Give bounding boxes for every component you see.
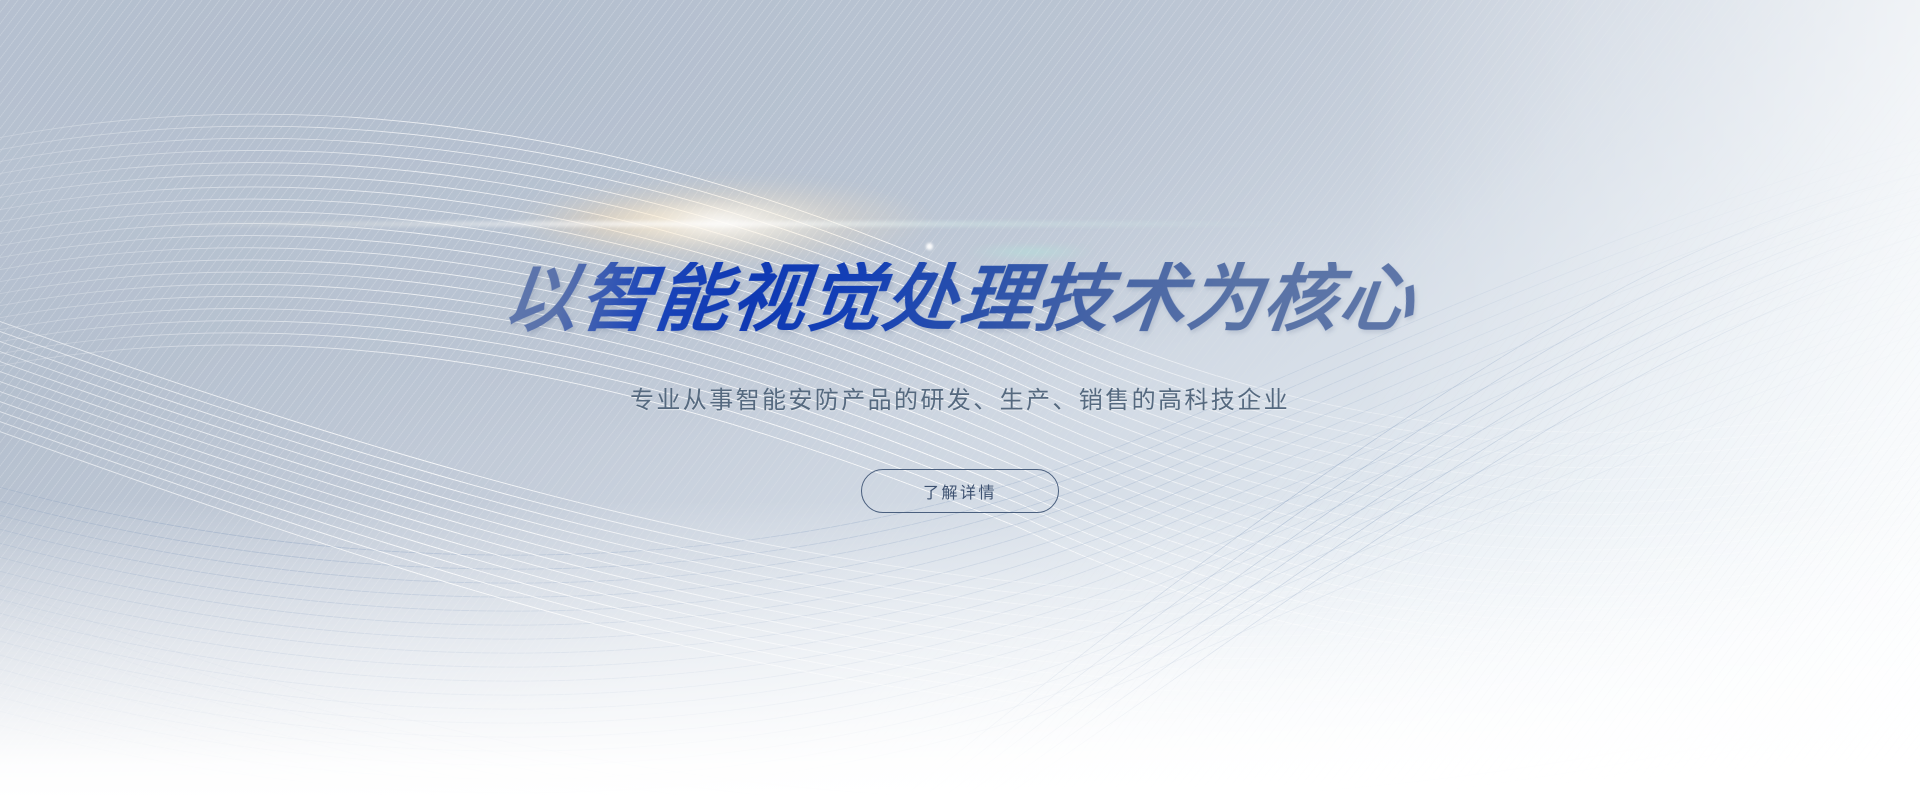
page-title: 以智能视觉处理技术为核心	[499, 262, 1420, 336]
hero-content: 以智能视觉处理技术为核心 专业从事智能安防产品的研发、生产、销售的高科技企业 了…	[0, 0, 1920, 800]
hero-banner: 以智能视觉处理技术为核心 专业从事智能安防产品的研发、生产、销售的高科技企业 了…	[0, 0, 1920, 800]
right-white-fade	[1360, 0, 1920, 800]
learn-more-button[interactable]: 了解详情	[861, 469, 1059, 513]
lens-flare-streak	[130, 222, 1310, 226]
page-subtitle: 专业从事智能安防产品的研发、生产、销售的高科技企业	[630, 380, 1290, 415]
lens-flare-dot	[926, 243, 933, 250]
lens-flare-warm-glow	[495, 194, 825, 250]
bottom-white-fade	[0, 500, 1920, 800]
